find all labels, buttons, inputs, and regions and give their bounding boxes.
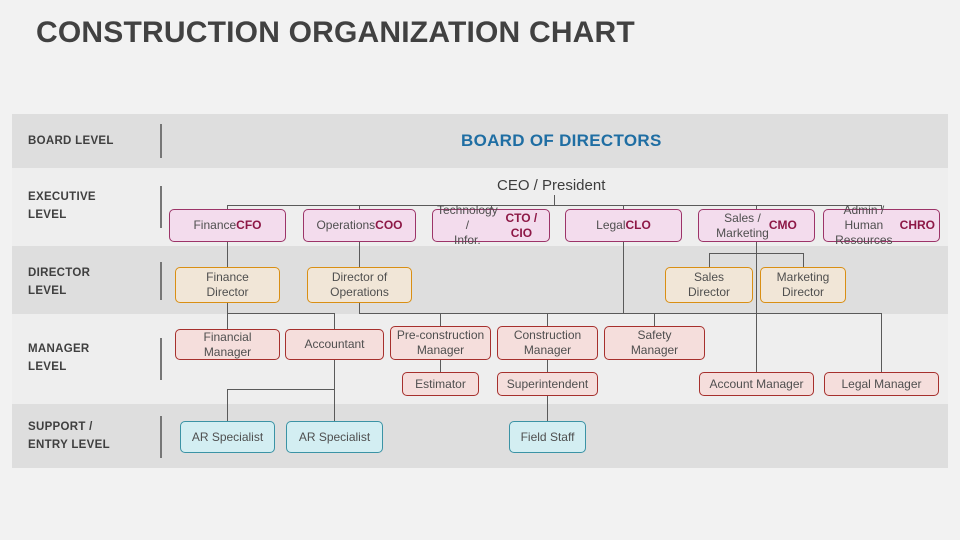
connector-accountant-bus [227, 389, 335, 390]
node-field-staff[interactable]: Field Staff [509, 421, 586, 453]
connector-accountant-stem [334, 360, 335, 389]
connector-construction-superintendent [547, 360, 548, 372]
node-account-manager[interactable]: Account Manager [699, 372, 814, 396]
connector-director-operations-stem [359, 303, 360, 313]
connector-ceo-bus [227, 205, 882, 206]
level-label-director: DIRECTOR LEVEL [28, 265, 90, 301]
node-sales-marketing-cmo-label: Sales / Marketing [716, 211, 769, 241]
level-label-board: BOARD LEVEL [28, 133, 114, 151]
node-preconstruction-manager[interactable]: Pre-construction Manager [390, 326, 491, 360]
node-sales-marketing-cmo-acronym: CMO [769, 218, 797, 233]
connector-director-operations-bus [359, 313, 654, 314]
node-director-of-operations[interactable]: Director of Operations [307, 267, 412, 303]
node-superintendent[interactable]: Superintendent [497, 372, 598, 396]
connector-finance-director-stem [227, 303, 228, 313]
divider-director [160, 262, 162, 300]
connector-to-accountant [334, 313, 335, 329]
connector-coo-director-operations [359, 241, 360, 267]
level-label-manager: MANAGER LEVEL [28, 341, 90, 377]
divider-board [160, 124, 162, 158]
band-support [12, 404, 948, 468]
node-legal-manager[interactable]: Legal Manager [824, 372, 939, 396]
node-estimator[interactable]: Estimator [402, 372, 479, 396]
board-of-directors-heading: BOARD OF DIRECTORS [461, 131, 662, 151]
node-operations-coo[interactable]: Operations COO [303, 209, 416, 242]
connector-to-ar-specialist-2 [334, 389, 335, 421]
node-legal-clo[interactable]: Legal CLO [565, 209, 682, 242]
node-operations-coo-acronym: COO [375, 218, 402, 233]
divider-support [160, 416, 162, 458]
connector-preconstruction-estimator [440, 360, 441, 372]
connector-superintendent-field-staff [547, 396, 548, 421]
node-ar-specialist-1[interactable]: AR Specialist [180, 421, 275, 453]
node-technology-cto-cio[interactable]: Technology / Infor. CTO / CIO [432, 209, 550, 242]
node-legal-clo-label: Legal [596, 218, 625, 233]
node-construction-manager[interactable]: Construction Manager [497, 326, 598, 360]
node-ar-specialist-2[interactable]: AR Specialist [286, 421, 383, 453]
connector-ceo-stem [554, 195, 555, 205]
level-label-support: SUPPORT / ENTRY LEVEL [28, 419, 110, 455]
connector-to-legal-manager [881, 313, 882, 372]
org-chart-canvas: CONSTRUCTION ORGANIZATION CHART BOARD LE… [0, 0, 960, 540]
node-admin-hr-chro[interactable]: Admin / Human Resources CHRO [823, 209, 940, 242]
ceo-president-node: CEO / President [497, 177, 605, 194]
node-legal-clo-acronym: CLO [626, 218, 651, 233]
node-technology-cto-cio-label: Technology / Infor. [437, 203, 498, 248]
level-label-executive: EXECUTIVE LEVEL [28, 189, 96, 225]
connector-cfo-finance-director [227, 241, 228, 267]
connector-cmo-account-manager [756, 241, 757, 372]
divider-executive [160, 186, 162, 228]
connector-to-financial-manager [227, 313, 228, 329]
node-accountant[interactable]: Accountant [285, 329, 384, 360]
node-safety-manager[interactable]: Safety Manager [604, 326, 705, 360]
node-sales-marketing-cmo[interactable]: Sales / Marketing CMO [698, 209, 815, 242]
connector-to-sales-director [709, 253, 710, 267]
node-admin-hr-chro-acronym: CHRO [900, 218, 935, 233]
page-title: CONSTRUCTION ORGANIZATION CHART [36, 16, 635, 50]
node-marketing-director[interactable]: Marketing Director [760, 267, 846, 303]
connector-finance-director-bus [227, 313, 335, 314]
node-admin-hr-chro-label: Admin / Human Resources [828, 203, 900, 248]
node-finance-cfo-acronym: CFO [236, 218, 261, 233]
node-finance-cfo[interactable]: Finance CFO [169, 209, 286, 242]
node-technology-cto-cio-acronym: CTO / CIO [498, 211, 545, 241]
node-financial-manager[interactable]: Financial Manager [175, 329, 280, 360]
connector-to-ar-specialist-1 [227, 389, 228, 421]
node-operations-coo-label: Operations [316, 218, 375, 233]
connector-clo-stem [623, 241, 624, 313]
node-sales-director[interactable]: Sales Director [665, 267, 753, 303]
node-finance-director[interactable]: Finance Director [175, 267, 280, 303]
connector-clo-legal-bus [623, 313, 882, 314]
node-finance-cfo-label: Finance [193, 218, 236, 233]
connector-to-marketing-director [803, 253, 804, 267]
divider-manager [160, 338, 162, 380]
